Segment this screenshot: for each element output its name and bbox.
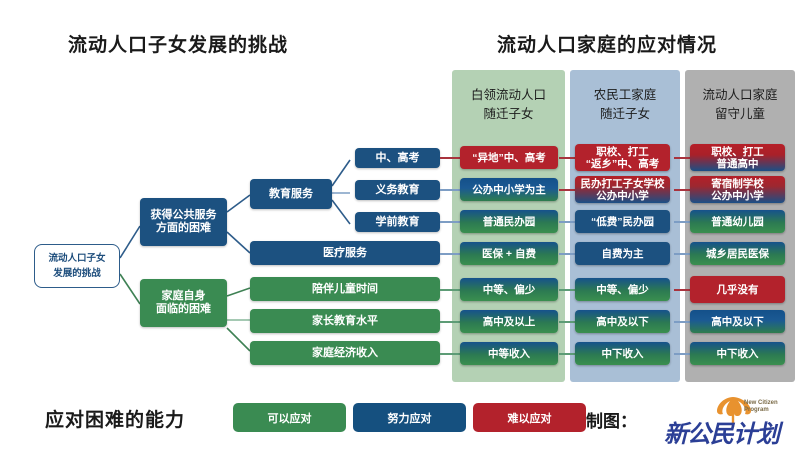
cell-c1-r1[interactable]: 民办打工子女学校 公办中小学 <box>575 176 670 203</box>
branch-line2: 方面的困难 <box>156 222 211 234</box>
logo-english-text: New Citizen Program <box>744 400 778 414</box>
branch-line1: 家庭自身 <box>162 290 206 302</box>
cell-line1: 职校、打工 <box>711 146 764 158</box>
cell-c0-r0[interactable]: “异地”中、高考 <box>460 146 558 169</box>
connector-row3-a <box>440 253 460 255</box>
cell-c1-r6[interactable]: 中下收入 <box>575 342 670 365</box>
row-label-zhongkao-gaokao[interactable]: 中、高考 <box>355 148 440 168</box>
connector-row5-a <box>440 321 460 323</box>
cell-line1: 普通民办园 <box>483 216 536 228</box>
row-label-child-companionship-time[interactable]: 陪伴儿童时间 <box>250 277 440 301</box>
branch-node-public-service[interactable]: 获得公共服务 方面的困难 <box>140 198 227 246</box>
row-label-text: 中、高考 <box>376 152 420 165</box>
infographic-canvas: 流动人口子女发展的挑战 流动人口家庭的应对情况 白领流动人口 随迁子女 农民工家… <box>0 0 800 450</box>
organization-logo: 新公民计划 New Citizen Program <box>664 396 796 446</box>
root-node-line2: 发展的挑战 <box>53 268 101 279</box>
cell-line1: 寄宿制学校 <box>711 178 764 190</box>
row-label-text: 家长教育水平 <box>312 315 378 328</box>
root-node[interactable]: 流动人口子女 发展的挑战 <box>34 244 120 288</box>
cell-c2-r6[interactable]: 中下收入 <box>690 342 785 365</box>
cell-line1: 普通幼儿园 <box>711 216 764 228</box>
cell-c1-r3[interactable]: 自费为主 <box>575 242 670 265</box>
cell-c0-r5[interactable]: 高中及以上 <box>460 310 558 333</box>
connector-row1-c <box>674 189 690 191</box>
cell-line1: 公办中小学为主 <box>472 184 546 196</box>
row-label-medical-service[interactable]: 医疗服务 <box>250 241 440 265</box>
connector-row0-a <box>440 157 460 159</box>
cell-line1: 中等收入 <box>488 348 530 360</box>
cell-line2: “返乡”中、高考 <box>586 158 660 170</box>
cell-c1-r4[interactable]: 中等、偏少 <box>575 278 670 301</box>
row-label-preschool-education[interactable]: 学前教育 <box>355 212 440 232</box>
cell-line1: “低费”民办园 <box>591 216 654 228</box>
cell-c2-r4[interactable]: 几乎没有 <box>690 276 785 303</box>
group-node-label: 教育服务 <box>269 188 313 201</box>
cell-line1: 高中及以下 <box>596 316 649 328</box>
cell-line1: “异地”中、高考 <box>472 152 546 164</box>
cell-line1: 中下收入 <box>717 348 759 360</box>
connector-row5-b <box>559 321 575 323</box>
connector-row2-a <box>440 221 460 223</box>
row-label-text: 义务教育 <box>376 184 420 197</box>
credit-prefix: 制图： <box>586 407 637 432</box>
cell-c0-r2[interactable]: 普通民办园 <box>460 210 558 233</box>
legend-chip-struggle-cope[interactable]: 努力应对 <box>353 403 466 432</box>
cell-line1: 自费为主 <box>602 248 644 260</box>
row-label-text: 学前教育 <box>376 216 420 229</box>
cell-c1-r5[interactable]: 高中及以下 <box>575 310 670 333</box>
branch-node-family-difficulty[interactable]: 家庭自身 面临的困难 <box>140 279 227 327</box>
connector-row6-b <box>559 353 575 355</box>
cell-c2-r0[interactable]: 职校、打工 普通高中 <box>690 144 785 171</box>
cell-c0-r6[interactable]: 中等收入 <box>460 342 558 365</box>
connector-row6-c <box>674 353 690 355</box>
connector-row3-c <box>674 253 690 255</box>
legend-title: 应对困难的能力 <box>45 405 185 432</box>
connector-row3-b <box>559 253 575 255</box>
legend-chip-label: 努力应对 <box>388 410 432 426</box>
cell-line1: 中等、偏少 <box>596 284 649 296</box>
connector-row4-a <box>440 289 460 291</box>
cell-c1-r0[interactable]: 职校、打工 “返乡”中、高考 <box>575 144 670 171</box>
row-label-family-income[interactable]: 家庭经济收入 <box>250 341 440 365</box>
cell-line1: 中等、偏少 <box>483 284 536 296</box>
cell-c2-r5[interactable]: 高中及以下 <box>690 310 785 333</box>
root-node-line1: 流动人口子女 <box>48 253 105 264</box>
row-label-parent-education-level[interactable]: 家长教育水平 <box>250 309 440 333</box>
connector-row5-c <box>674 321 690 323</box>
cell-c1-r2[interactable]: “低费”民办园 <box>575 210 670 233</box>
connector-row2-c <box>674 221 690 223</box>
legend-chip-label: 难以应对 <box>508 410 552 426</box>
legend-chip-can-cope[interactable]: 可以应对 <box>233 403 346 432</box>
cell-line1: 高中及以下 <box>711 316 764 328</box>
cell-line2: 公办中小学 <box>711 190 764 202</box>
cell-c0-r1[interactable]: 公办中小学为主 <box>460 178 558 201</box>
cell-line1: 几乎没有 <box>717 284 759 296</box>
branch-line2: 面临的困难 <box>156 303 211 315</box>
cell-c0-r3[interactable]: 医保 + 自费 <box>460 242 558 265</box>
connector-row4-c <box>674 289 690 291</box>
row-label-text: 家庭经济收入 <box>312 347 378 360</box>
group-node-education-service[interactable]: 教育服务 <box>250 179 332 209</box>
cell-line2: 普通高中 <box>717 158 759 170</box>
connector-row6-a <box>440 353 460 355</box>
logo-english-line1: New Citizen <box>744 400 778 407</box>
cell-line1: 医保 + 自费 <box>482 248 536 260</box>
connector-row2-b <box>559 221 575 223</box>
cell-c2-r1[interactable]: 寄宿制学校 公办中小学 <box>690 176 785 203</box>
row-label-text: 医疗服务 <box>323 247 367 260</box>
row-label-compulsory-education[interactable]: 义务教育 <box>355 180 440 200</box>
connector-row0-c <box>674 157 690 159</box>
cell-line1: 民办打工子女学校 <box>581 178 665 190</box>
cell-line1: 中下收入 <box>602 348 644 360</box>
branch-line1: 获得公共服务 <box>151 209 217 221</box>
logo-english-line2: Program <box>744 407 778 414</box>
row-label-text: 陪伴儿童时间 <box>312 283 378 296</box>
cell-line1: 高中及以上 <box>483 316 536 328</box>
legend-chip-label: 可以应对 <box>268 410 312 426</box>
cell-c2-r2[interactable]: 普通幼儿园 <box>690 210 785 233</box>
cell-line2: 公办中小学 <box>596 190 649 202</box>
connector-row1-b <box>559 189 575 191</box>
connector-row0-b <box>559 157 575 159</box>
connector-row1-a <box>440 189 460 191</box>
legend-chip-cannot-cope[interactable]: 难以应对 <box>473 403 586 432</box>
cell-line1: 城乡居民医保 <box>706 248 769 260</box>
cell-c2-r3[interactable]: 城乡居民医保 <box>690 242 785 265</box>
connector-row4-b <box>559 289 575 291</box>
logo-chinese-text: 新公民计划 <box>664 414 779 449</box>
cell-line1: 职校、打工 <box>596 146 649 158</box>
cell-c0-r4[interactable]: 中等、偏少 <box>460 278 558 301</box>
